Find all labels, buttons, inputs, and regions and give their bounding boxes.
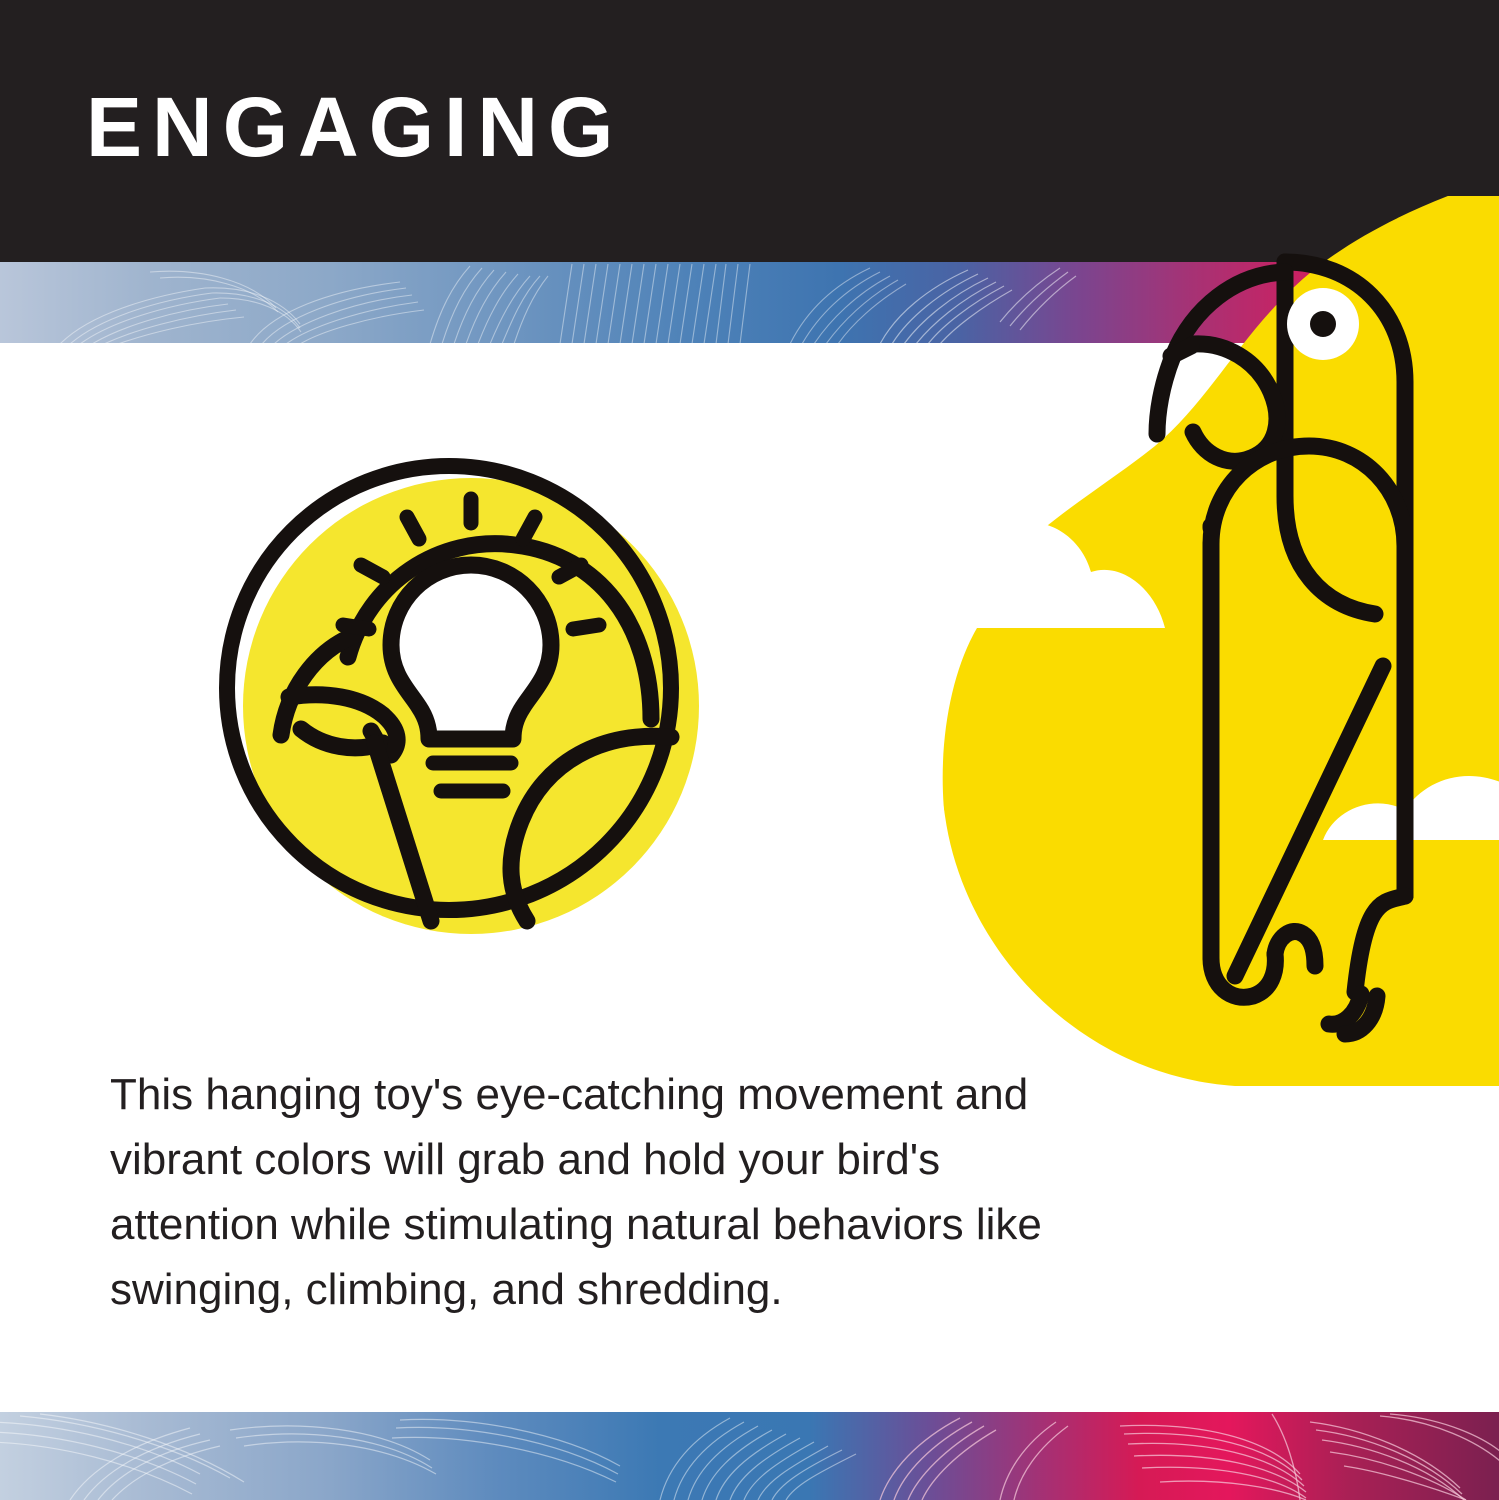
bird-idea-icon	[203, 443, 713, 955]
icon-ray-upper-right	[523, 517, 535, 539]
page-title: ENGAGING	[86, 82, 623, 172]
product-feature-card: ENGAGING	[0, 0, 1499, 1500]
icon-ray-far-left	[343, 625, 369, 629]
icon-ray-right	[559, 565, 581, 577]
bird-idea-icon-svg	[203, 443, 713, 955]
parrot-eye-pupil	[1310, 311, 1336, 337]
parrot-illustration	[905, 196, 1499, 1086]
cloud-cutout-small-left	[905, 892, 955, 939]
description-paragraph: This hanging toy's eye-catching movement…	[110, 1062, 1110, 1322]
icon-ray-far-right	[573, 625, 599, 629]
icon-ray-left	[361, 565, 383, 577]
icon-bulb-glass	[391, 565, 551, 739]
parrot-beak-join	[1171, 346, 1191, 356]
feather-strip-bottom	[0, 1412, 1499, 1500]
feather-texture-bottom-svg	[0, 1412, 1499, 1500]
icon-ray-upper-left	[407, 517, 419, 539]
description-text: This hanging toy's eye-catching movement…	[110, 1062, 1110, 1322]
parrot-illustration-svg	[905, 196, 1499, 1086]
